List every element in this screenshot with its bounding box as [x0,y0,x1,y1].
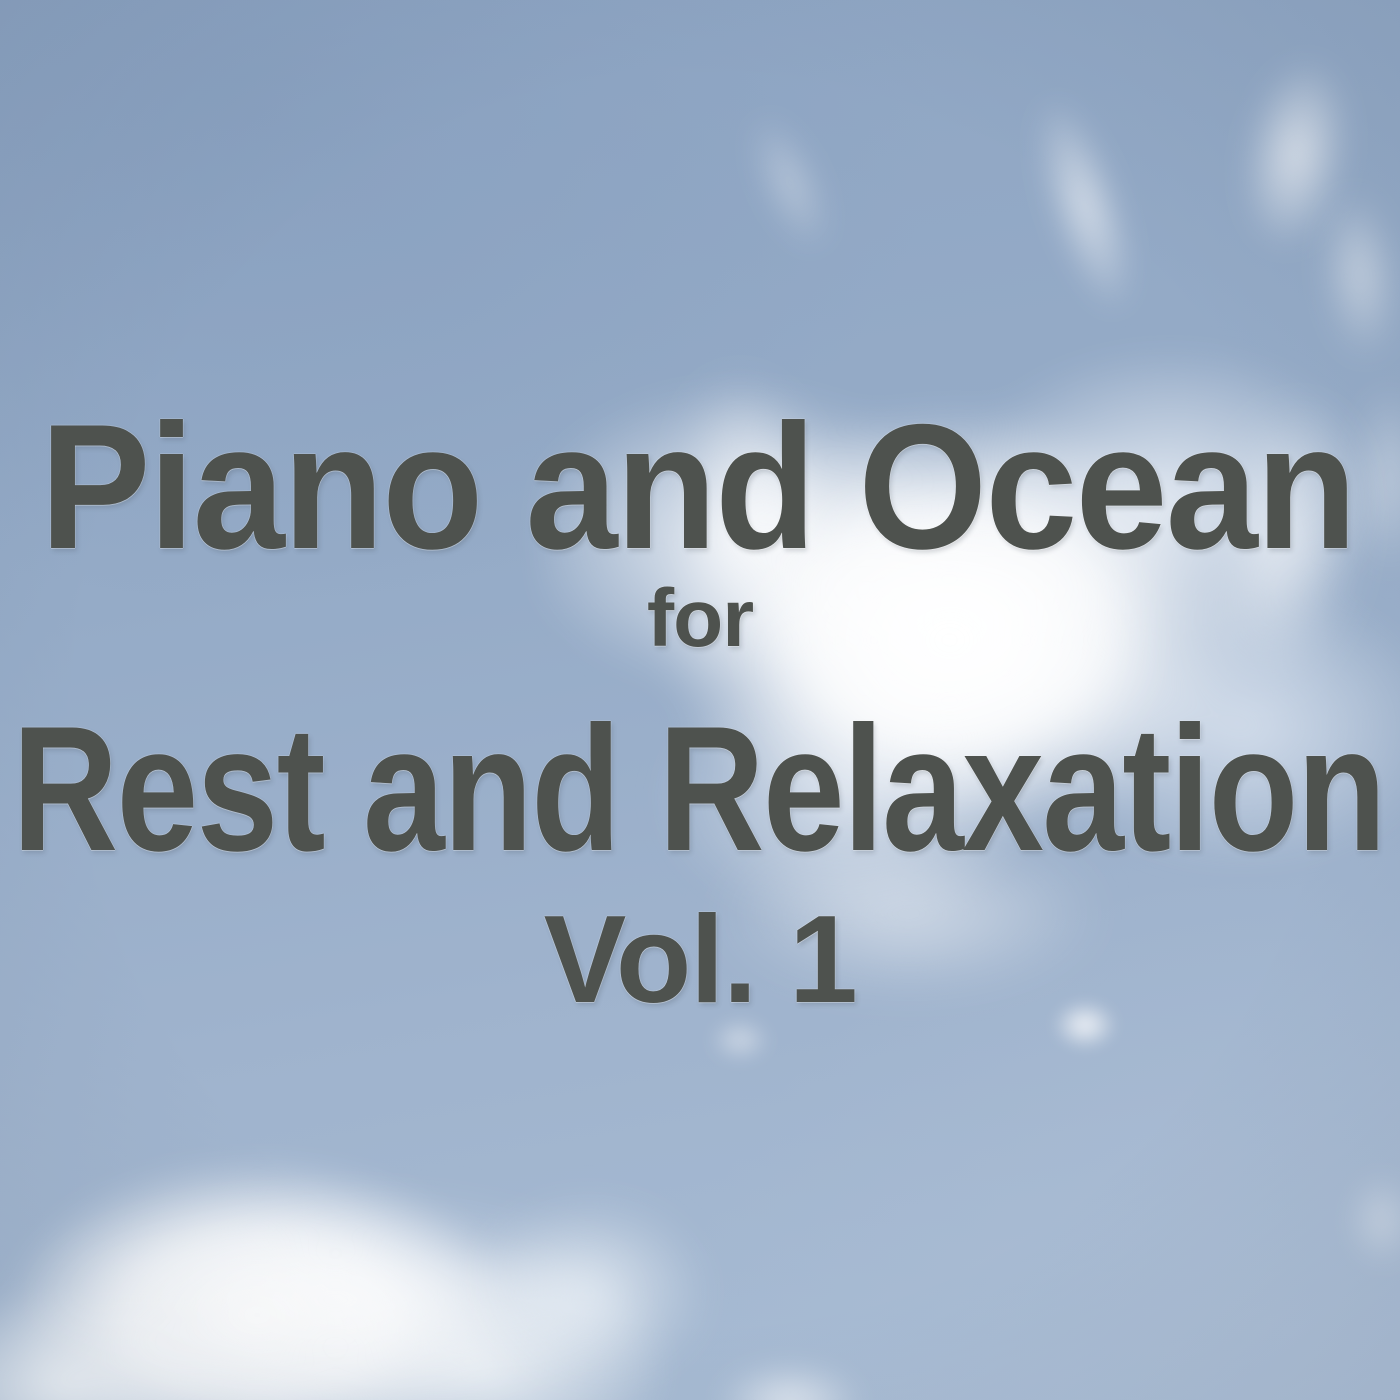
album-volume-label: Vol. 1 [0,898,1400,1022]
album-title-line-1: Piano and Ocean [40,398,1269,576]
album-cover: Piano and Ocean for Rest and Relaxation … [0,0,1400,1400]
album-title-connector: for [0,578,1400,660]
cover-text-layer: Piano and Ocean for Rest and Relaxation … [0,0,1400,1400]
album-title-line-2: Rest and Relaxation [12,700,1149,878]
